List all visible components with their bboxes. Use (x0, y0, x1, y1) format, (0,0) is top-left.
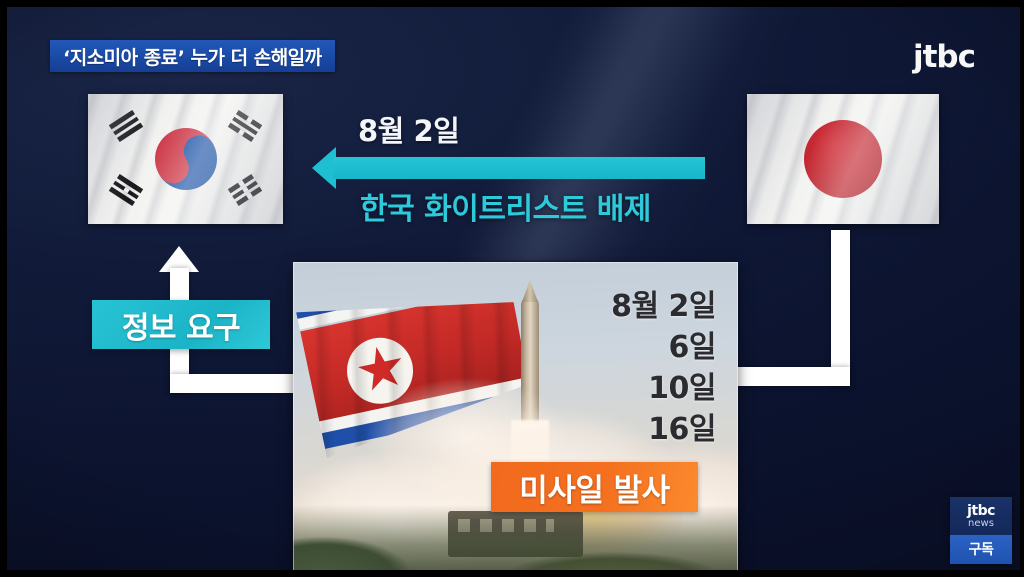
letterbox-bottom (0, 570, 1024, 577)
information-request-label-text: 정보 요구 (122, 303, 240, 347)
broadcast-graphic-screen: ‘지소미아 종료’ 누가 더 손해일까 jtbc (0, 0, 1024, 577)
watermark-news-text: news (950, 518, 1012, 530)
subscribe-button[interactable]: 구독 (950, 535, 1012, 564)
whitelist-action-label: 한국 화이트리스트 배제 (360, 184, 651, 228)
cyan-arrow-shaft (333, 157, 705, 179)
whitelist-date-label: 8월 2일 (358, 108, 459, 150)
letterbox-left (0, 0, 7, 577)
white-connector-right-vertical (831, 230, 850, 386)
white-connector-right-horizontal (735, 367, 850, 386)
jtbc-news-watermark: jtbc news 구독 (950, 497, 1012, 564)
information-request-label: 정보 요구 (92, 300, 270, 349)
headline-banner: ‘지소미아 종료’ 누가 더 손해일까 (50, 40, 335, 72)
flag-shading (88, 94, 283, 224)
subscribe-button-label: 구독 (969, 542, 994, 558)
letterbox-top (0, 0, 1024, 7)
flag-shading (747, 94, 939, 224)
watermark-brand-block: jtbc news (950, 497, 1012, 535)
japan-flag (747, 94, 939, 224)
watermark-jtbc-text: jtbc (950, 504, 1012, 518)
korea-flag-face (88, 94, 283, 224)
photo-border (293, 262, 738, 577)
headline-text: ‘지소미아 종료’ 누가 더 손해일까 (63, 43, 322, 70)
japan-flag-face (747, 94, 939, 224)
missile-launch-photo: 8월 2일 6일 10일 16일 미사일 발사 (293, 262, 738, 577)
jtbc-logo: jtbc (913, 39, 975, 75)
korea-flag (88, 94, 283, 224)
letterbox-right (1020, 0, 1024, 577)
white-connector-left-horizontal (170, 374, 306, 393)
